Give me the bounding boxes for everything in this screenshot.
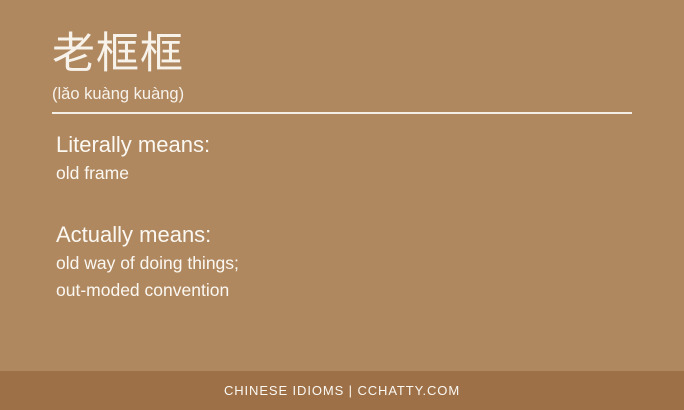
headword-chinese: 老框框 (52, 28, 184, 80)
card-content: 老框框 (lǎo kuàng kuàng) Literally means: o… (0, 0, 684, 371)
literal-meaning-label: Literally means: (56, 130, 210, 160)
header-divider (52, 112, 632, 114)
actual-meaning-line: out-moded convention (56, 277, 239, 304)
actual-meaning-label: Actually means: (56, 220, 239, 250)
literal-meaning-block: Literally means: old frame (56, 130, 210, 187)
footer-bar: CHINESE IDIOMS | CCHATTY.COM (0, 371, 684, 410)
footer-attribution: CHINESE IDIOMS | CCHATTY.COM (224, 383, 460, 399)
actual-meaning-line: old way of doing things; (56, 250, 239, 277)
literal-meaning-line: old frame (56, 160, 210, 187)
headword-pinyin: (lǎo kuàng kuàng) (52, 84, 184, 105)
idiom-card: 老框框 (lǎo kuàng kuàng) Literally means: o… (0, 0, 684, 410)
actual-meaning-block: Actually means: old way of doing things;… (56, 220, 239, 304)
